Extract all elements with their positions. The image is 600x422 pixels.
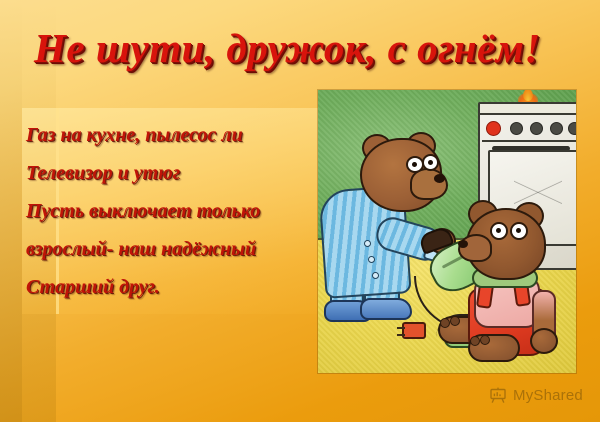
poem-line: Газ на кухне, пылесос ли: [26, 116, 318, 154]
stove-knob: [530, 122, 543, 135]
watermark: MyShared: [489, 387, 583, 404]
cub-bear-nose: [458, 240, 468, 248]
pyjama-button: [368, 256, 375, 263]
watermark-text: MyShared: [513, 387, 583, 404]
background-band-left: [0, 0, 22, 422]
stove-knob: [510, 122, 523, 135]
poem-line: взрослый- наш надёжный: [26, 230, 318, 268]
cub-bear-toe: [470, 336, 480, 346]
electric-plug: [402, 322, 426, 339]
cub-bear-paw: [530, 328, 558, 354]
stove-knob-red: [486, 121, 501, 136]
stove-cooktop: [478, 102, 576, 115]
stove-knob: [568, 122, 576, 135]
adult-bear-slipper: [360, 298, 412, 320]
poem-line: Пусть выключает только: [26, 192, 318, 230]
cub-bear-eye: [510, 222, 528, 240]
poem-block: Газ на кухне, пылесос ли Телевизор и утю…: [26, 116, 318, 306]
presentation-board-icon: [489, 387, 507, 404]
illustration-image: [318, 90, 576, 373]
cub-bear-eye: [490, 222, 508, 240]
oven-window-reflection: [514, 176, 562, 206]
pyjama-button: [372, 272, 379, 279]
poem-line: Телевизор и утюг: [26, 154, 318, 192]
adult-bear-nose: [434, 174, 445, 183]
cub-bear-toe: [450, 316, 460, 326]
cub-bear-snout: [458, 234, 492, 262]
slide-title: Не шути, дружок, с огнём!: [34, 24, 464, 72]
cub-bear-toe: [440, 318, 450, 328]
stove-knob: [550, 122, 563, 135]
cub-bear-toe: [480, 335, 490, 345]
presentation-slide: Не шути, дружок, с огнём! Газ на кухне, …: [0, 0, 600, 422]
poem-line: Старший друг.: [26, 268, 318, 306]
adult-bear-eye: [422, 154, 439, 171]
pyjama-button: [364, 240, 371, 247]
